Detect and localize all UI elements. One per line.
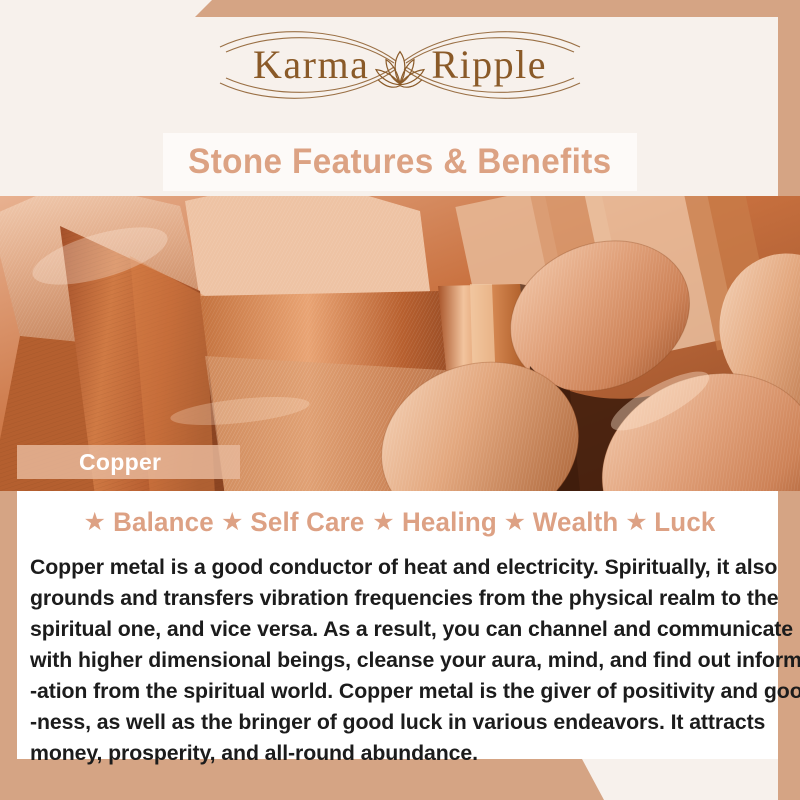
- star-icon: ★: [372, 510, 394, 535]
- photo-caption-bar: Copper: [17, 445, 240, 479]
- brand-logo: Karma Ripple: [0, 0, 800, 130]
- brand-word-left: Karma: [253, 45, 369, 85]
- feature-item-self-care: ★ Self Care: [216, 507, 367, 538]
- section-banner: Stone Features & Benefits: [163, 133, 637, 191]
- content-panel: ★ Balance ★ Self Care ★ Healing ★ Wealth…: [17, 491, 778, 759]
- description-line: -ation from the spiritual world. Copper …: [30, 676, 763, 707]
- section-title: Stone Features & Benefits: [188, 142, 611, 182]
- brand-word-right: Ripple: [431, 45, 547, 85]
- feature-list: ★ Balance ★ Self Care ★ Healing ★ Wealth…: [17, 507, 778, 538]
- description-line: grounds and transfers vibration frequenc…: [30, 583, 763, 614]
- description-line: -ness, as well as the bringer of good lu…: [30, 707, 763, 738]
- star-icon: ★: [221, 510, 243, 535]
- lotus-icon: [368, 46, 432, 90]
- star-icon: ★: [625, 510, 647, 535]
- star-icon: ★: [84, 510, 106, 535]
- feature-item-balance: ★ Balance: [79, 507, 216, 538]
- star-icon: ★: [504, 510, 526, 535]
- feature-label: Balance: [113, 507, 214, 538]
- feature-item-luck: ★ Luck: [620, 507, 716, 538]
- feature-label: Wealth: [533, 507, 619, 538]
- feature-label: Luck: [654, 507, 715, 538]
- description-line: with higher dimensional beings, cleanse …: [30, 645, 763, 676]
- feature-label: Healing: [402, 507, 497, 538]
- feature-label: Self Care: [251, 507, 365, 538]
- feature-item-healing: ★ Healing: [367, 507, 498, 538]
- product-photo: Copper: [0, 196, 800, 491]
- description-line: Copper metal is a good conductor of heat…: [30, 552, 763, 583]
- product-info-poster: Karma Ripple Stone Features & Benefits: [0, 0, 800, 800]
- frame-band-left: [0, 489, 17, 800]
- stone-name-label: Copper: [79, 449, 161, 476]
- description-line: spiritual one, and vice versa. As a resu…: [30, 614, 763, 645]
- description-text: Copper metal is a good conductor of heat…: [30, 552, 770, 769]
- description-line: money, prosperity, and all-round abundan…: [30, 738, 763, 769]
- feature-item-wealth: ★ Wealth: [499, 507, 621, 538]
